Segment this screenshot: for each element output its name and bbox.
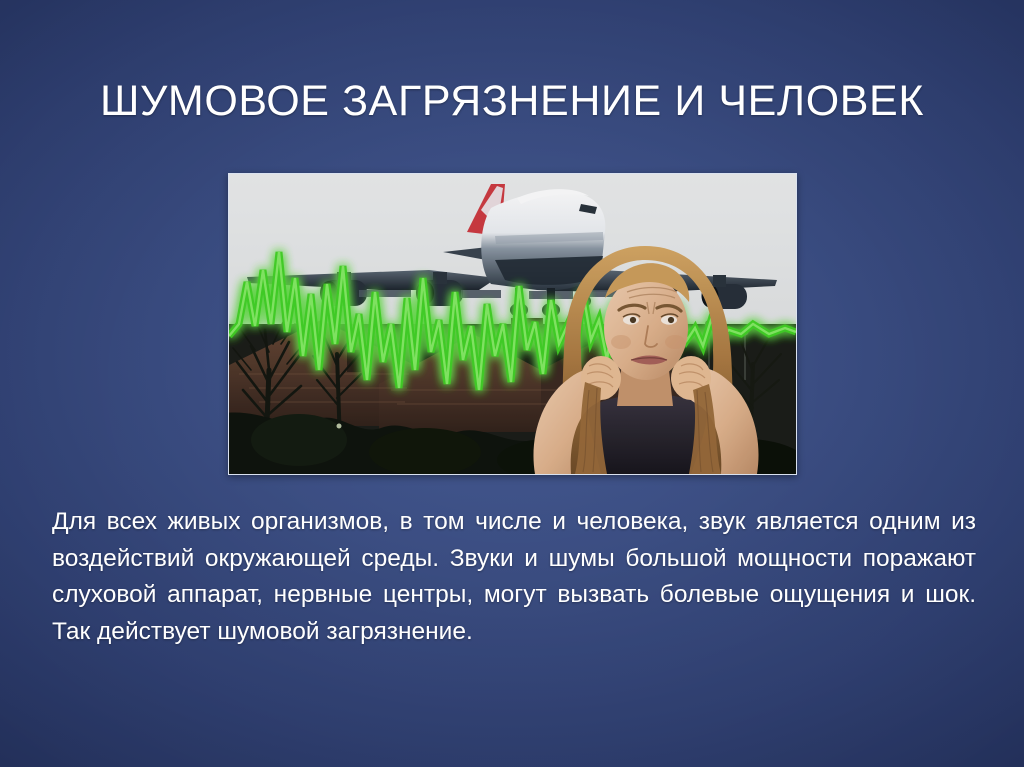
page-title: ШУМОВОЕ ЗАГРЯЗНЕНИЕ И ЧЕЛОВЕК xyxy=(62,77,962,125)
body-paragraph: Для всех живых организмов, в том числе и… xyxy=(52,504,976,650)
body-text-block: Для всех живых организмов, в том числе и… xyxy=(52,504,976,650)
photo-illustration xyxy=(229,174,796,474)
noise-pollution-photo xyxy=(228,173,797,475)
slide: ШУМОВОЕ ЗАГРЯЗНЕНИЕ И ЧЕЛОВЕК xyxy=(0,0,1024,767)
